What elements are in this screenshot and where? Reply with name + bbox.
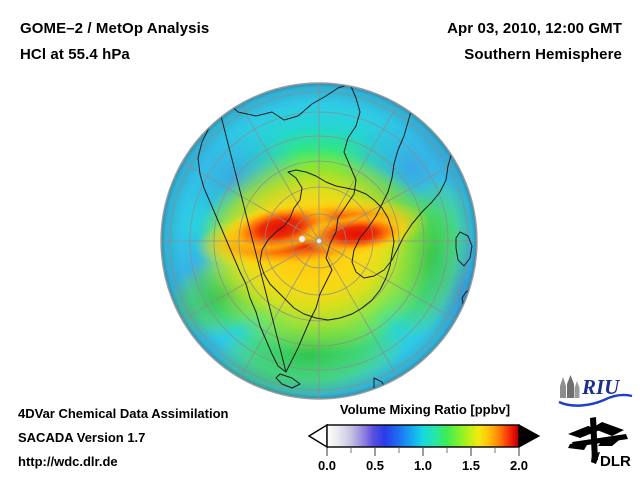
colorbar-tick-label: 1.0 <box>414 458 432 473</box>
colorbar-tick-label: 0.5 <box>366 458 384 473</box>
header-right-block: Apr 03, 2010, 12:00 GMT Southern Hemisph… <box>322 16 622 68</box>
polar-map-globe <box>160 82 478 400</box>
hemisphere-label: Southern Hemisphere <box>322 42 622 68</box>
cathedral-towers-icon <box>560 375 580 398</box>
colorbar-underflow-arrow-icon <box>309 425 327 447</box>
riu-logo: RIU <box>556 374 634 408</box>
colorbar-tick-label: 2.0 <box>510 458 528 473</box>
dlr-logo-text: DLR <box>600 453 631 470</box>
colorbar-title: Volume Mixing Ratio [ppbv] <box>305 402 545 417</box>
colorbar-tick-labels: 0.0 0.5 1.0 1.5 2.0 <box>318 458 528 473</box>
colorbar-svg: 0.0 0.5 1.0 1.5 2.0 <box>305 422 545 474</box>
globe-svg <box>160 82 478 400</box>
dlr-logo: DLR <box>566 414 634 472</box>
colorbar-major-ticks <box>327 448 519 456</box>
credit-version: SACADA Version 1.7 <box>18 426 308 450</box>
colorbar-tick-label: 1.5 <box>462 458 480 473</box>
pole-dot-icon <box>316 238 321 243</box>
header-left-block: GOME–2 / MetOp Analysis HCl at 55.4 hPa <box>20 16 350 68</box>
colorbar-tick-label: 0.0 <box>318 458 336 473</box>
colorbar-overflow-arrow-icon <box>519 425 539 447</box>
page-title: GOME–2 / MetOp Analysis <box>20 16 350 42</box>
footer-credits-block: 4DVar Chemical Data Assimilation SACADA … <box>18 402 308 474</box>
credit-method: 4DVar Chemical Data Assimilation <box>18 402 308 426</box>
credit-url: http://wdc.dlr.de <box>18 450 308 474</box>
riu-logo-svg: RIU <box>556 374 634 408</box>
colorbar-block: Volume Mixing Ratio [ppbv] 0.0 <box>305 402 545 474</box>
colorbar-ramp <box>327 425 519 447</box>
dlr-logo-svg: DLR <box>566 414 634 472</box>
timestamp-label: Apr 03, 2010, 12:00 GMT <box>322 16 622 42</box>
page-subtitle-species-level: HCl at 55.4 hPa <box>20 42 350 68</box>
grid-gap-dot-icon <box>299 236 305 242</box>
